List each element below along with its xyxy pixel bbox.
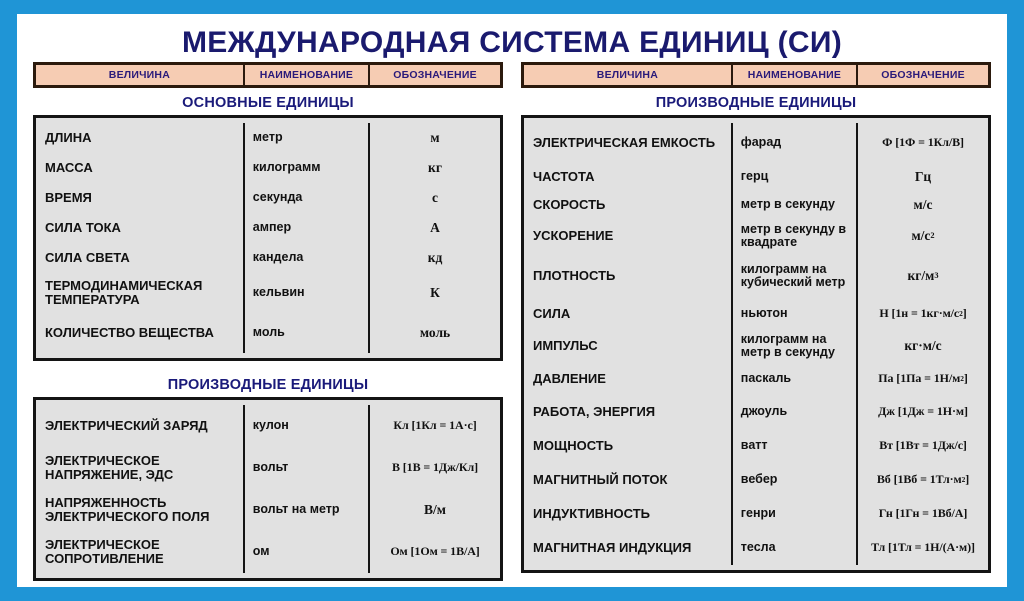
cell-quantity: ДЛИНА	[36, 123, 245, 153]
cell-unit-symbol: м/с2	[858, 219, 988, 253]
left-column-header-strip: ВЕЛИЧИНА НАИМЕНОВАНИЕ ОБОЗНАЧЕНИЕ	[33, 62, 503, 88]
cell-unit-name: вольт	[245, 447, 370, 489]
cell-unit-name: ом	[245, 531, 370, 573]
cell-quantity: НАПРЯЖЕННОСТЬ ЭЛЕКТРИЧЕСКОГО ПОЛЯ	[36, 489, 245, 531]
table-row: СИЛА СВЕТАканделакд	[36, 243, 500, 273]
table-base-units: ДЛИНАметрмМАССАкилограммкгВРЕМЯсекундасС…	[33, 115, 503, 361]
left-column: ВЕЛИЧИНА НАИМЕНОВАНИЕ ОБОЗНАЧЕНИЕ ОСНОВН…	[33, 62, 503, 581]
cell-quantity: ЧАСТОТА	[524, 163, 733, 191]
cell-unit-symbol: кг	[370, 153, 500, 183]
table-row: ТЕРМОДИНАМИЧЕСКАЯ ТЕМПЕРАТУРАкельвинК	[36, 273, 500, 313]
table-row: СКОРОСТЬметр в секундум/с	[524, 191, 988, 219]
cell-unit-symbol: А	[370, 213, 500, 243]
cell-quantity: ДАВЛЕНИЕ	[524, 363, 733, 395]
cell-unit-name: метр в секунду в квадрате	[733, 219, 858, 253]
poster-columns: ВЕЛИЧИНА НАИМЕНОВАНИЕ ОБОЗНАЧЕНИЕ ОСНОВН…	[17, 62, 1007, 581]
table-row: МАГНИТНАЯ ИНДУКЦИЯтеслаТл [1Тл = 1Н/(А·м…	[524, 531, 988, 565]
cell-unit-name: фарад	[733, 123, 858, 163]
table-row: МАССАкилограммкг	[36, 153, 500, 183]
table-row: ИМПУЛЬСкилограмм на метр в секундукг·м/с	[524, 329, 988, 363]
cell-unit-symbol: с	[370, 183, 500, 213]
table-row: ЭЛЕКТРИЧЕСКАЯ ЕМКОСТЬфарадФ [1Ф = 1Кл/В]	[524, 123, 988, 163]
table-row: СИЛА ТОКАамперА	[36, 213, 500, 243]
header-symbol: ОБОЗНАЧЕНИЕ	[370, 65, 500, 85]
cell-unit-symbol: Ом [1Ом = 1В/А]	[370, 531, 500, 573]
cell-unit-symbol: Дж [1Дж = 1Н·м]	[858, 395, 988, 429]
page-title: МЕЖДУНАРОДНАЯ СИСТЕМА ЕДИНИЦ (СИ)	[17, 14, 1007, 62]
cell-quantity: ИМПУЛЬС	[524, 329, 733, 363]
header-symbol: ОБОЗНАЧЕНИЕ	[858, 65, 988, 85]
cell-unit-name: вольт на метр	[245, 489, 370, 531]
cell-unit-name: герц	[733, 163, 858, 191]
poster-frame: МЕЖДУНАРОДНАЯ СИСТЕМА ЕДИНИЦ (СИ) ВЕЛИЧИ…	[0, 0, 1024, 601]
cell-unit-symbol: Гн [1Гн = 1Вб/А]	[858, 497, 988, 531]
cell-quantity: МАГНИТНЫЙ ПОТОК	[524, 463, 733, 497]
header-quantity: ВЕЛИЧИНА	[36, 65, 245, 85]
cell-quantity: КОЛИЧЕСТВО ВЕЩЕСТВА	[36, 313, 245, 353]
cell-unit-symbol: моль	[370, 313, 500, 353]
table-row: ЭЛЕКТРИЧЕСКОЕ НАПРЯЖЕНИЕ, ЭДСвольтВ [1В …	[36, 447, 500, 489]
cell-unit-symbol: Тл [1Тл = 1Н/(А·м)]	[858, 531, 988, 565]
table-row: УСКОРЕНИЕметр в секунду в квадратем/с2	[524, 219, 988, 253]
cell-unit-symbol: м/с	[858, 191, 988, 219]
cell-quantity: ПЛОТНОСТЬ	[524, 253, 733, 299]
cell-quantity: СКОРОСТЬ	[524, 191, 733, 219]
cell-unit-symbol: кд	[370, 243, 500, 273]
cell-unit-name: джоуль	[733, 395, 858, 429]
cell-unit-symbol: Па [1Па = 1Н/м2]	[858, 363, 988, 395]
header-name: НАИМЕНОВАНИЕ	[245, 65, 370, 85]
cell-unit-name: килограмм	[245, 153, 370, 183]
table-row: ЭЛЕКТРИЧЕСКИЙ ЗАРЯДкулонКл [1Кл = 1А·с]	[36, 405, 500, 447]
cell-unit-symbol: кг/м3	[858, 253, 988, 299]
table-derived-units-right: ЭЛЕКТРИЧЕСКАЯ ЕМКОСТЬфарадФ [1Ф = 1Кл/В]…	[521, 115, 991, 573]
table-row: ДАВЛЕНИЕпаскальПа [1Па = 1Н/м2]	[524, 363, 988, 395]
header-name: НАИМЕНОВАНИЕ	[733, 65, 858, 85]
cell-unit-symbol: Н [1н = 1кг·м/с2]	[858, 299, 988, 329]
cell-unit-name: генри	[733, 497, 858, 531]
cell-quantity: РАБОТА, ЭНЕРГИЯ	[524, 395, 733, 429]
cell-unit-name: метр	[245, 123, 370, 153]
cell-unit-name: кельвин	[245, 273, 370, 313]
cell-unit-symbol: К	[370, 273, 500, 313]
cell-unit-name: кулон	[245, 405, 370, 447]
section-caption-derived-units-right: ПРОИЗВОДНЫЕ ЕДИНИЦЫ	[521, 95, 991, 111]
cell-unit-symbol: В [1В = 1Дж/Кл]	[370, 447, 500, 489]
cell-quantity: ТЕРМОДИНАМИЧЕСКАЯ ТЕМПЕРАТУРА	[36, 273, 245, 313]
cell-unit-name: ватт	[733, 429, 858, 463]
table-row: ИНДУКТИВНОСТЬгенриГн [1Гн = 1Вб/А]	[524, 497, 988, 531]
cell-unit-name: ньютон	[733, 299, 858, 329]
cell-unit-name: метр в секунду	[733, 191, 858, 219]
table-row: МАГНИТНЫЙ ПОТОКвеберВб [1Вб = 1Тл·м2]	[524, 463, 988, 497]
table-row: НАПРЯЖЕННОСТЬ ЭЛЕКТРИЧЕСКОГО ПОЛЯвольт н…	[36, 489, 500, 531]
cell-unit-name: кандела	[245, 243, 370, 273]
cell-unit-symbol: кг·м/с	[858, 329, 988, 363]
cell-quantity: СИЛА	[524, 299, 733, 329]
cell-unit-symbol: В/м	[370, 489, 500, 531]
cell-unit-symbol: Ф [1Ф = 1Кл/В]	[858, 123, 988, 163]
poster-inner: МЕЖДУНАРОДНАЯ СИСТЕМА ЕДИНИЦ (СИ) ВЕЛИЧИ…	[17, 14, 1007, 587]
cell-unit-symbol: Вт [1Вт = 1Дж/с]	[858, 429, 988, 463]
cell-unit-name: килограмм на кубический метр	[733, 253, 858, 299]
header-quantity: ВЕЛИЧИНА	[524, 65, 733, 85]
left-column-spacer	[33, 361, 503, 375]
table-row: ПЛОТНОСТЬкилограмм на кубический метркг/…	[524, 253, 988, 299]
cell-unit-name: паскаль	[733, 363, 858, 395]
cell-unit-symbol: Гц	[858, 163, 988, 191]
table-row: ДЛИНАметрм	[36, 123, 500, 153]
cell-unit-name: моль	[245, 313, 370, 353]
cell-unit-name: ампер	[245, 213, 370, 243]
right-column: ВЕЛИЧИНА НАИМЕНОВАНИЕ ОБОЗНАЧЕНИЕ ПРОИЗВ…	[521, 62, 991, 573]
cell-quantity: СИЛА СВЕТА	[36, 243, 245, 273]
table-row: ЧАСТОТАгерцГц	[524, 163, 988, 191]
cell-quantity: ЭЛЕКТРИЧЕСКИЙ ЗАРЯД	[36, 405, 245, 447]
cell-quantity: ИНДУКТИВНОСТЬ	[524, 497, 733, 531]
table-derived-units-left: ЭЛЕКТРИЧЕСКИЙ ЗАРЯДкулонКл [1Кл = 1А·с]Э…	[33, 397, 503, 581]
table-row: СИЛАньютонН [1н = 1кг·м/с2]	[524, 299, 988, 329]
cell-quantity: ЭЛЕКТРИЧЕСКОЕ СОПРОТИВЛЕНИЕ	[36, 531, 245, 573]
table-row: РАБОТА, ЭНЕРГИЯджоульДж [1Дж = 1Н·м]	[524, 395, 988, 429]
cell-quantity: ЭЛЕКТРИЧЕСКАЯ ЕМКОСТЬ	[524, 123, 733, 163]
cell-quantity: МАГНИТНАЯ ИНДУКЦИЯ	[524, 531, 733, 565]
section-caption-derived-units-left: ПРОИЗВОДНЫЕ ЕДИНИЦЫ	[33, 377, 503, 393]
cell-unit-name: килограмм на метр в секунду	[733, 329, 858, 363]
cell-quantity: ЭЛЕКТРИЧЕСКОЕ НАПРЯЖЕНИЕ, ЭДС	[36, 447, 245, 489]
cell-unit-symbol: Кл [1Кл = 1А·с]	[370, 405, 500, 447]
cell-quantity: МОЩНОСТЬ	[524, 429, 733, 463]
cell-quantity: СИЛА ТОКА	[36, 213, 245, 243]
right-column-header-strip: ВЕЛИЧИНА НАИМЕНОВАНИЕ ОБОЗНАЧЕНИЕ	[521, 62, 991, 88]
cell-unit-name: тесла	[733, 531, 858, 565]
cell-unit-symbol: м	[370, 123, 500, 153]
section-caption-base-units: ОСНОВНЫЕ ЕДИНИЦЫ	[33, 95, 503, 111]
cell-unit-symbol: Вб [1Вб = 1Тл·м2]	[858, 463, 988, 497]
table-row: ВРЕМЯсекундас	[36, 183, 500, 213]
cell-unit-name: вебер	[733, 463, 858, 497]
cell-unit-name: секунда	[245, 183, 370, 213]
table-row: КОЛИЧЕСТВО ВЕЩЕСТВАмольмоль	[36, 313, 500, 353]
table-row: МОЩНОСТЬваттВт [1Вт = 1Дж/с]	[524, 429, 988, 463]
cell-quantity: МАССА	[36, 153, 245, 183]
cell-quantity: ВРЕМЯ	[36, 183, 245, 213]
cell-quantity: УСКОРЕНИЕ	[524, 219, 733, 253]
table-row: ЭЛЕКТРИЧЕСКОЕ СОПРОТИВЛЕНИЕомОм [1Ом = 1…	[36, 531, 500, 573]
